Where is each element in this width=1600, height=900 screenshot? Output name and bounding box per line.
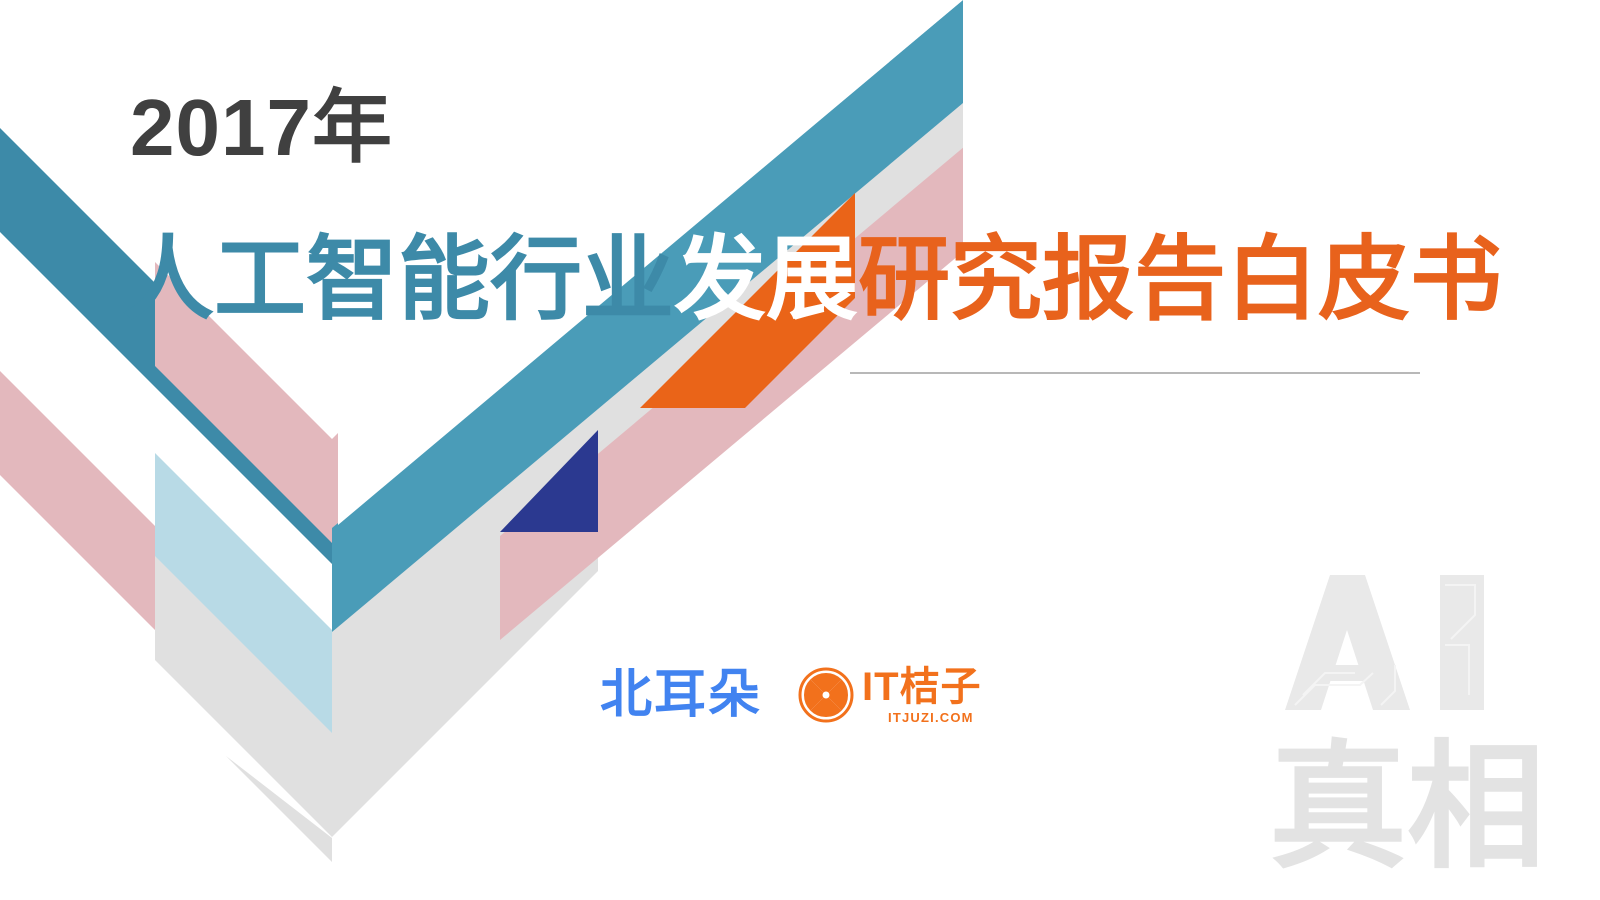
logo-itjuzi[interactable]: IT桔子 ITJUZI.COM xyxy=(798,666,982,724)
itjuzi-name: IT桔子 xyxy=(862,666,982,708)
itjuzi-text: IT桔子 ITJUZI.COM xyxy=(862,666,982,724)
watermark-chinese-zhenxiang: 真相 xyxy=(1269,731,1545,875)
svg-text:真相: 真相 xyxy=(1269,731,1545,875)
final-rising-pink-right xyxy=(963,6,1132,111)
orange-slice-icon xyxy=(798,667,854,723)
itjuzi-url: ITJUZI.COM xyxy=(888,711,974,724)
cover-slide: 真相 2017年 人工智能行业发展研究报告白皮书 北耳朵 xyxy=(0,0,1600,900)
watermark-letters-AI xyxy=(1285,575,1484,710)
logo-row: 北耳朵 IT桔子 ITJUZI.COM xyxy=(600,655,1020,735)
ai-watermark: 真相 xyxy=(1255,545,1585,875)
title-underline-rule xyxy=(850,372,1420,374)
logo-erduo[interactable]: 北耳朵 xyxy=(600,669,762,721)
